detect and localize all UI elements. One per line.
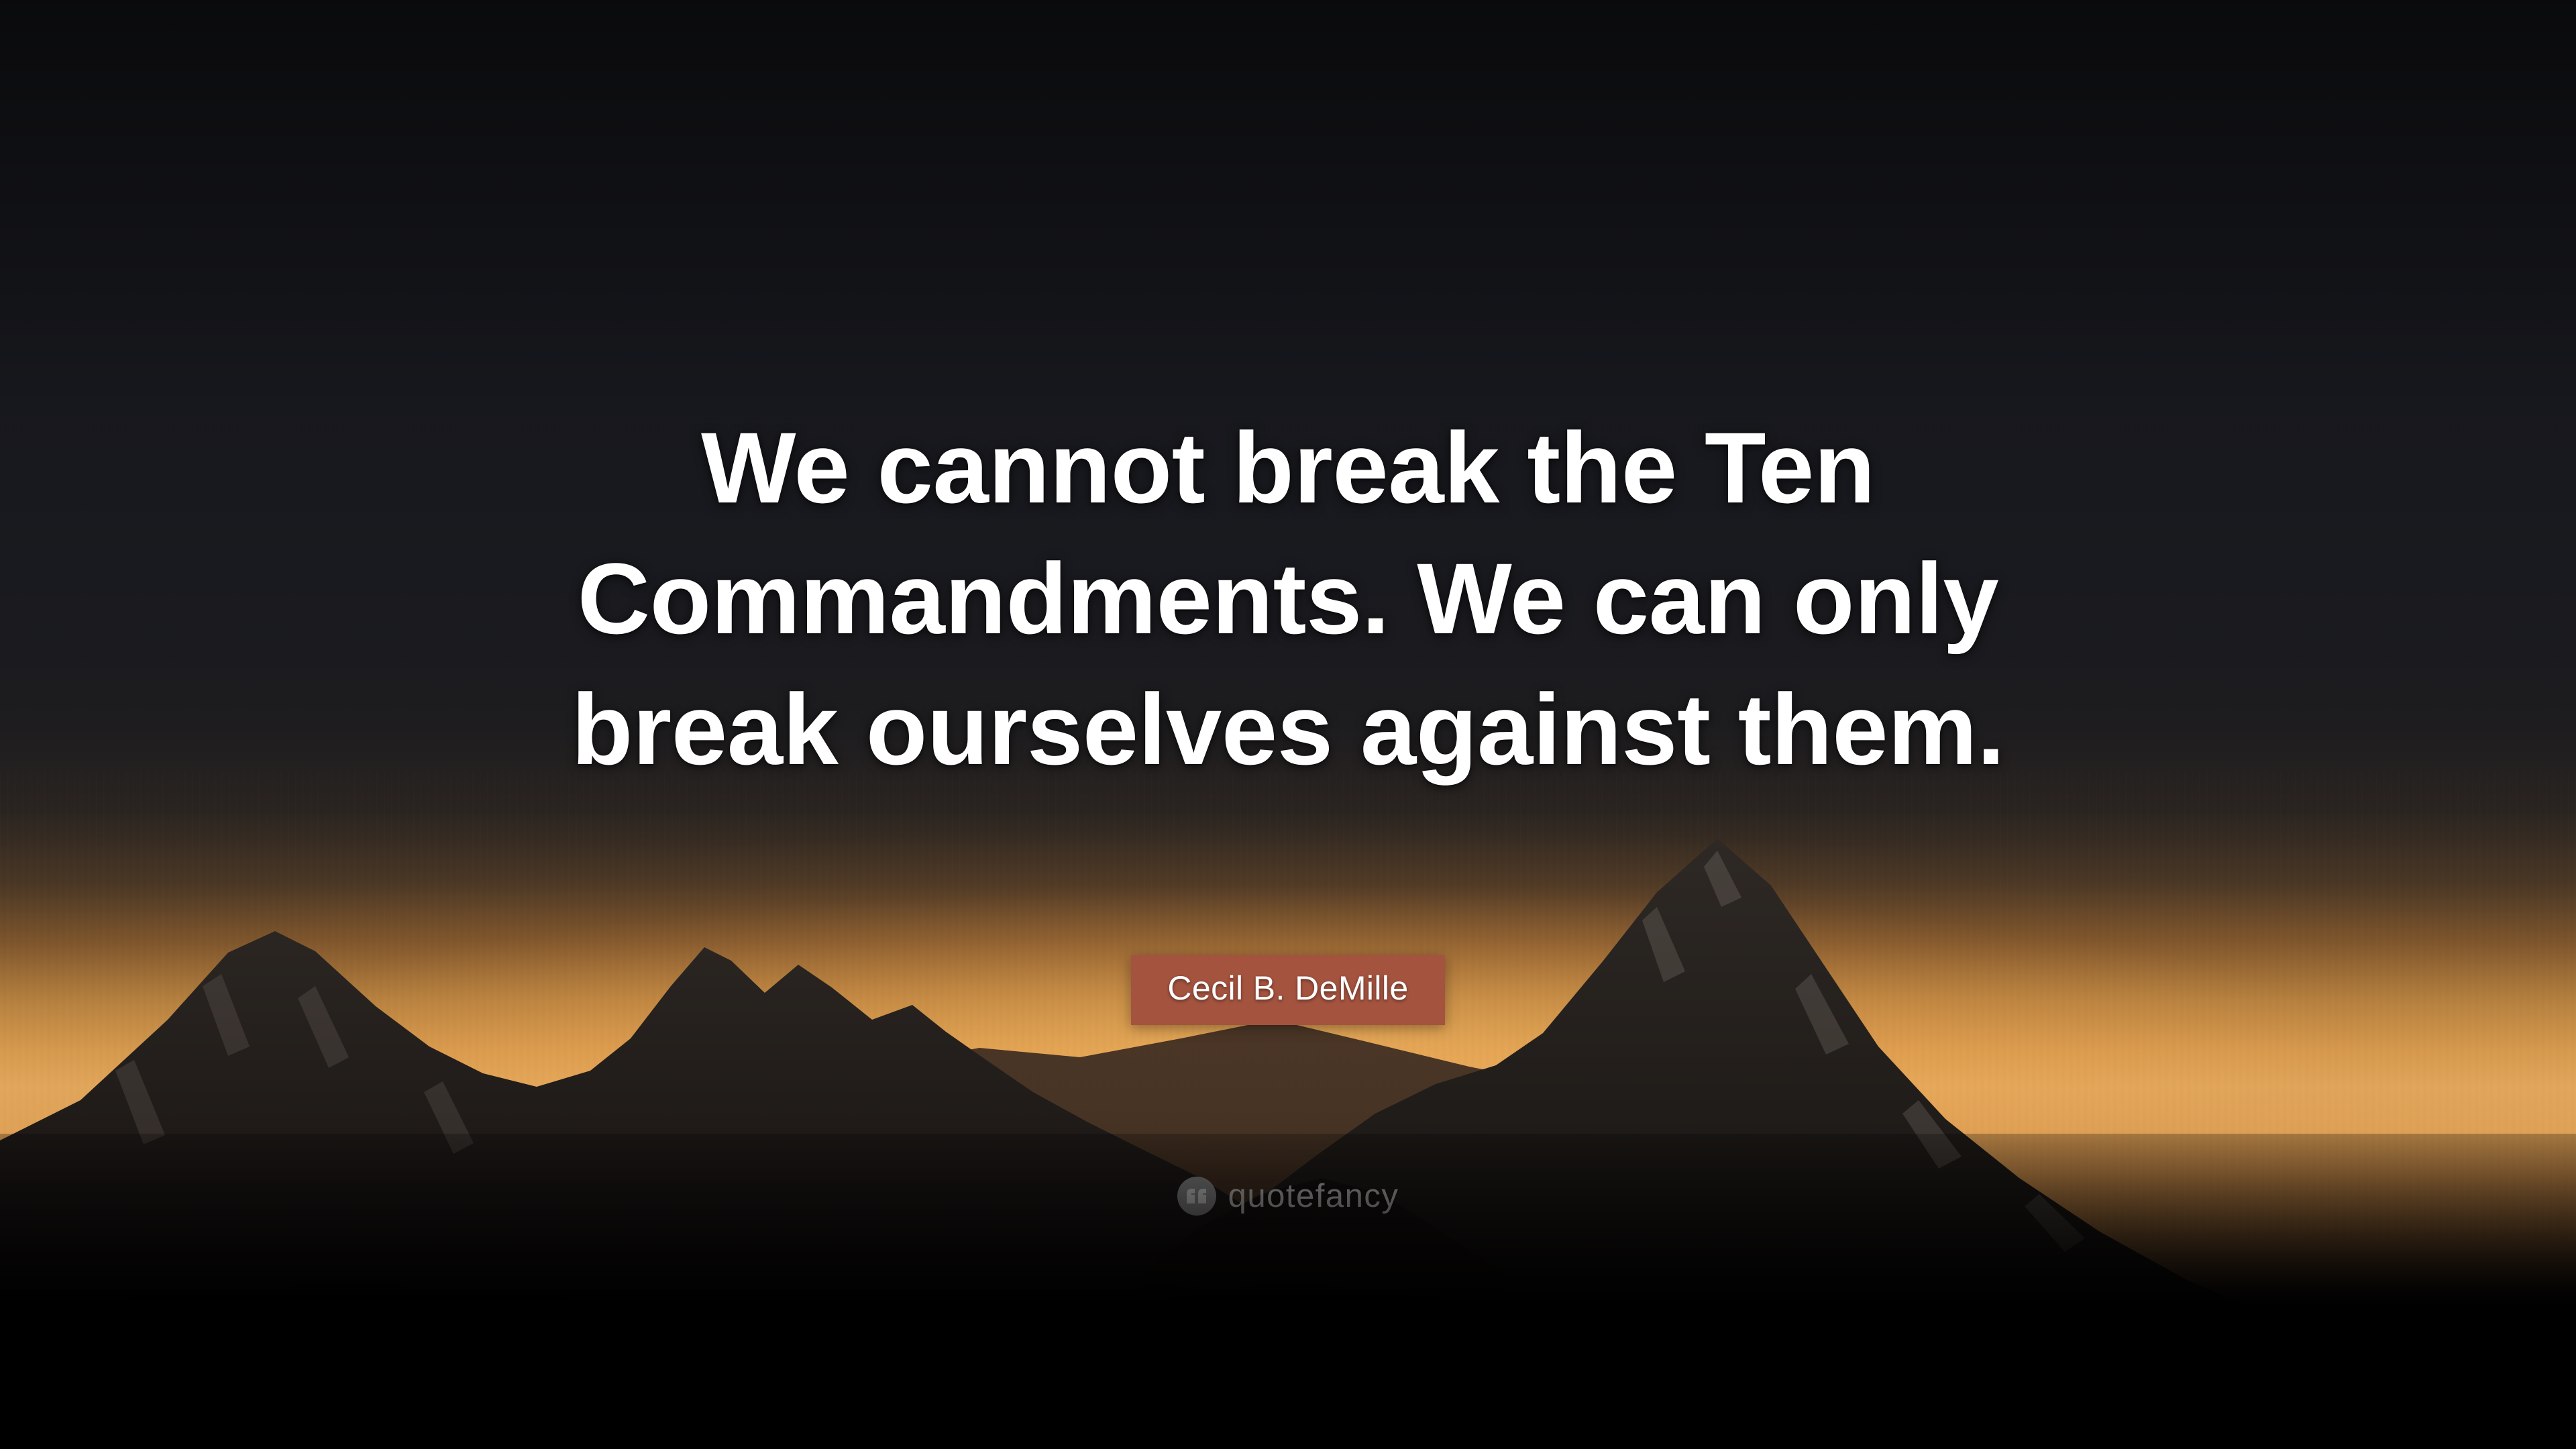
quotefancy-watermark[interactable]: quotefancy [0, 1177, 2576, 1216]
quote-marks-icon [1177, 1177, 1216, 1216]
quote-line-1: We cannot break the Ten [228, 402, 2348, 533]
author-badge-container: Cecil B. DeMille [0, 955, 2576, 1025]
quote-line-3: break ourselves against them. [228, 664, 2348, 795]
quotefancy-wordmark: quotefancy [1228, 1177, 1399, 1215]
author-name-badge[interactable]: Cecil B. DeMille [1131, 955, 1444, 1025]
quote-poster: We cannot break the Ten Commandments. We… [0, 0, 2576, 1449]
quote-text: We cannot break the Ten Commandments. We… [0, 402, 2576, 795]
quote-line-2: Commandments. We can only [228, 533, 2348, 664]
